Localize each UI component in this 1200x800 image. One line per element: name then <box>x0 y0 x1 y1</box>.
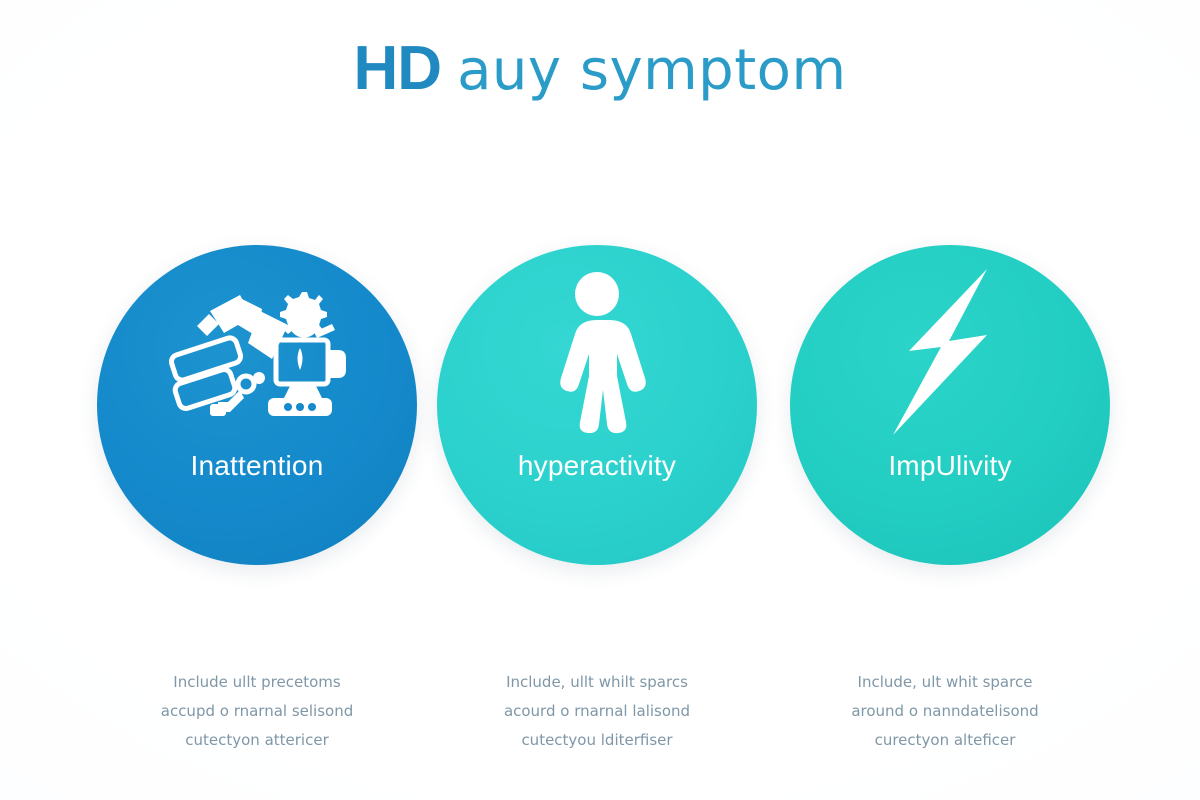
circle-label-hyperactivity: hyperactivity <box>437 450 757 482</box>
caption-impulsivity: Include, ult whit sparce around o nannda… <box>795 668 1095 755</box>
caption-inattention: Include ullt precetoms accupd o rnarnal … <box>107 668 407 755</box>
caption-line: accupd o rnarnal selisond <box>107 697 407 726</box>
circle-inattention[interactable]: Inattention <box>97 245 417 565</box>
icon-area-impulsivity <box>790 245 1110 450</box>
lightning-bolt-icon <box>875 265 1025 440</box>
circle-label-inattention: Inattention <box>97 450 417 482</box>
title-light-text: auy symptom <box>457 38 846 103</box>
caption-hyperactivity: Include, ullt whilt sparcs acourd o rnar… <box>447 668 747 755</box>
caption-line: around o nanndatelisond <box>795 697 1095 726</box>
icon-area-hyperactivity <box>437 245 757 450</box>
symptom-card-impulsivity[interactable]: ImpUlivity <box>790 245 1110 565</box>
circle-hyperactivity[interactable]: hyperactivity <box>437 245 757 565</box>
symptom-circles-row: Inattention hyperactivity <box>0 245 1200 575</box>
captions-row: Include ullt precetoms accupd o rnarnal … <box>0 668 1200 778</box>
page-title: HDauy symptom <box>0 38 1200 100</box>
person-figure-icon <box>532 268 662 438</box>
caption-line: Include ullt precetoms <box>107 668 407 697</box>
symptom-card-hyperactivity[interactable]: hyperactivity <box>437 245 757 565</box>
icon-area-inattention <box>97 245 417 450</box>
scattered-objects-icon <box>162 278 352 428</box>
circle-label-impulsivity: ImpUlivity <box>790 450 1110 482</box>
circle-impulsivity[interactable]: ImpUlivity <box>790 245 1110 565</box>
caption-line: cutectyon attericer <box>107 726 407 755</box>
infographic-canvas: HDauy symptom <box>0 0 1200 800</box>
caption-line: Include, ult whit sparce <box>795 668 1095 697</box>
caption-line: Include, ullt whilt sparcs <box>447 668 747 697</box>
symptom-card-inattention[interactable]: Inattention <box>97 245 417 565</box>
caption-line: acourd o rnarnal lalisond <box>447 697 747 726</box>
title-strong-text: HD <box>354 34 442 103</box>
caption-line: curectyon alteficer <box>795 726 1095 755</box>
caption-line: cutectyou lditerfiser <box>447 726 747 755</box>
